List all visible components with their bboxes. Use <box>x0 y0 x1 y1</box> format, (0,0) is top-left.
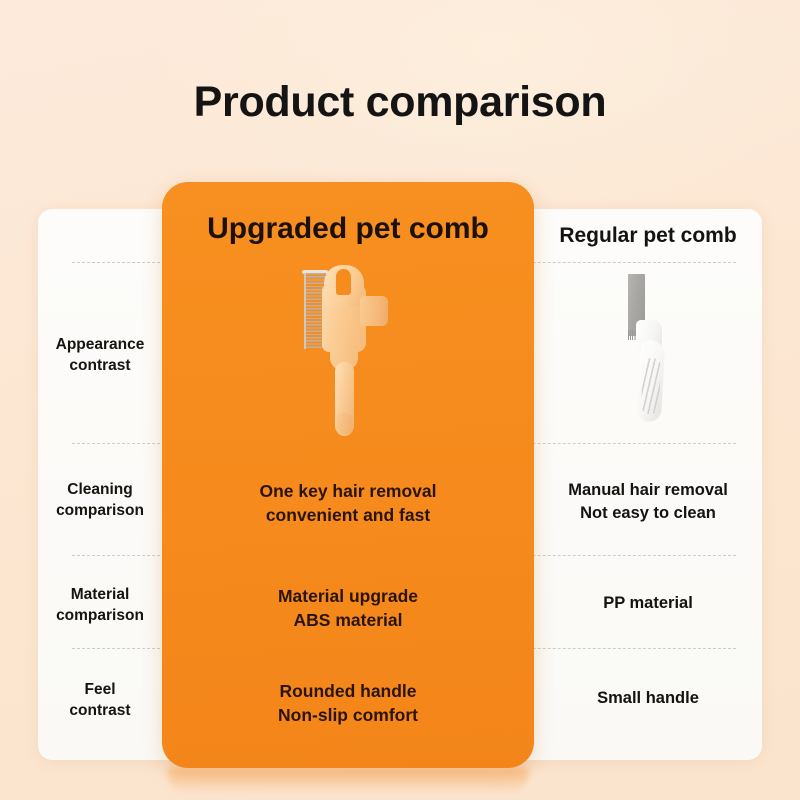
comb-release-button <box>360 296 388 326</box>
column-header-regular: Regular pet comb <box>534 224 762 248</box>
upgraded-column-reflection <box>168 768 528 798</box>
row-label-line1: Material <box>38 584 162 605</box>
cell-regular-material: PP material <box>534 592 762 615</box>
cell-upgraded-material: Material upgrade ABS material <box>162 584 534 632</box>
regular-comb-grip-ridges <box>641 358 662 415</box>
comb-hook-notch <box>336 269 351 295</box>
regular-pet-comb-icon <box>612 272 682 424</box>
cell-line2: ABS material <box>162 608 534 632</box>
row-label-appearance: Appearance contrast <box>38 334 162 377</box>
row-label-line1: Appearance <box>38 334 162 355</box>
cell-regular-feel: Small handle <box>534 687 762 710</box>
cell-line1: One key hair removal <box>162 479 534 503</box>
upgraded-pet-comb-icon <box>288 262 406 437</box>
cell-line1: Manual hair removal <box>534 479 762 502</box>
row-label-feel: Feel contrast <box>38 679 162 722</box>
row-label-line1: Cleaning <box>38 479 162 500</box>
cell-line2: Non-slip comfort <box>162 703 534 727</box>
cell-line1: PP material <box>534 592 762 615</box>
row-label-material: Material comparison <box>38 584 162 627</box>
cell-line1: Small handle <box>534 687 762 710</box>
cell-upgraded-cleaning: One key hair removal convenient and fast <box>162 479 534 527</box>
cell-line1: Rounded handle <box>162 679 534 703</box>
row-label-line2: comparison <box>38 500 162 521</box>
row-label-line2: contrast <box>38 700 162 721</box>
row-label-line2: contrast <box>38 355 162 376</box>
row-label-line1: Feel <box>38 679 162 700</box>
page-title: Product comparison <box>0 78 800 127</box>
cell-line2: Not easy to clean <box>534 502 762 525</box>
cell-line1: Material upgrade <box>162 584 534 608</box>
infographic-root: Product comparison Upgraded pet comb Reg… <box>0 0 800 800</box>
cell-upgraded-feel: Rounded handle Non-slip comfort <box>162 679 534 727</box>
comb-handle-tip <box>336 412 353 436</box>
row-label-line2: comparison <box>38 605 162 626</box>
row-label-cleaning: Cleaning comparison <box>38 479 162 522</box>
cell-line2: convenient and fast <box>162 503 534 527</box>
cell-regular-cleaning: Manual hair removal Not easy to clean <box>534 479 762 525</box>
column-header-upgraded: Upgraded pet comb <box>162 212 534 246</box>
